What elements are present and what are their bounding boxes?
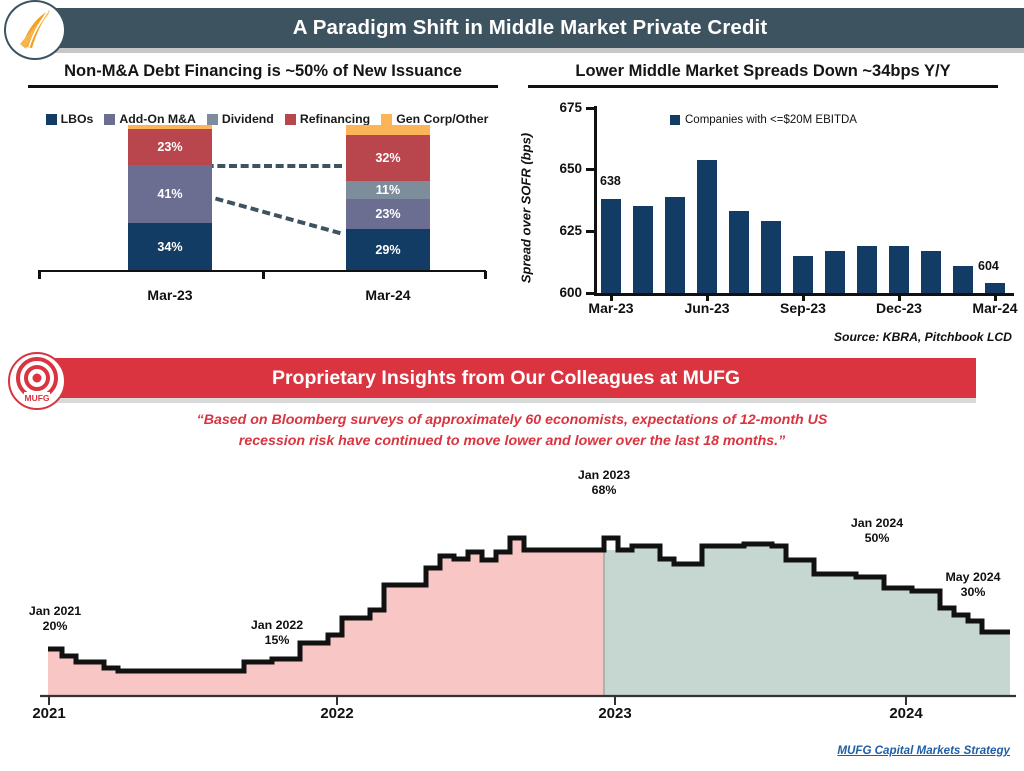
recession-step-area bbox=[0, 460, 1024, 720]
segment-gen-corp-other bbox=[346, 125, 430, 135]
lmm-legend: Companies with <=$20M EBITDA bbox=[670, 114, 857, 126]
annotation-jan-2023: Jan 2023 68% bbox=[559, 468, 649, 498]
annotation-jan-2022: Jan 2022 15% bbox=[232, 618, 322, 648]
bar-mar-23 bbox=[601, 199, 621, 293]
annotation-date: Jan 2022 bbox=[232, 618, 322, 633]
legend-label: Companies with <=$20M EBITDA bbox=[685, 114, 857, 126]
bottom-x-tick-2023 bbox=[614, 696, 616, 705]
axis-tick-mid bbox=[262, 271, 265, 279]
right-heading-rule bbox=[528, 85, 998, 88]
annotation-may-2024: May 2024 30% bbox=[925, 570, 1021, 600]
legend-item-gen-corp-other: Gen Corp/Other bbox=[381, 112, 488, 126]
bar-jan-24 bbox=[921, 251, 941, 293]
annotation-date: Jan 2023 bbox=[559, 468, 649, 483]
legend-item-addon-ma: Add-On M&A bbox=[104, 112, 196, 126]
annotation-date: May 2024 bbox=[925, 570, 1021, 585]
y-axis-label: Spread over SOFR (bps) bbox=[519, 133, 534, 283]
mufg-quote-line-1: “Based on Bloomberg surveys of approxima… bbox=[110, 410, 914, 431]
mufg-bullseye-logo: MUFG bbox=[8, 352, 66, 410]
connector-dash-mid bbox=[191, 190, 340, 235]
axis-tick-left bbox=[38, 271, 41, 279]
segment-refinancing: 32% bbox=[346, 135, 430, 181]
bottom-x-tick-2024 bbox=[905, 696, 907, 705]
bar-aug-23 bbox=[761, 221, 781, 293]
bar-sep-23 bbox=[793, 256, 813, 293]
bar-dec-23 bbox=[889, 246, 909, 293]
source-note: Source: KBRA, Pitchbook LCD bbox=[834, 330, 1012, 344]
x-label-jun-23: Jun-23 bbox=[657, 300, 757, 316]
bottom-x-tick-2022 bbox=[336, 696, 338, 705]
stacked-plot-area: 2% 23% 41% 34% 6% 32% bbox=[24, 128, 510, 303]
left-chart-heading-text: Non-M&A Debt Financing is ~50% of New Is… bbox=[28, 62, 498, 81]
legend-label: Dividend bbox=[222, 112, 274, 126]
segment-value: 32% bbox=[375, 151, 400, 165]
annotation-jan-2024: Jan 2024 50% bbox=[832, 516, 922, 546]
segment-value: 29% bbox=[375, 243, 400, 257]
header-shadow bbox=[44, 48, 1024, 53]
legend-swatch-icon bbox=[104, 114, 115, 125]
lmm-spreads-chart: Spread over SOFR (bps) 675 650 625 600 C… bbox=[520, 96, 1024, 328]
legend-swatch-icon bbox=[381, 114, 392, 125]
page-title: A Paradigm Shift in Middle Market Privat… bbox=[293, 16, 768, 40]
bottom-x-tick-2021 bbox=[48, 696, 50, 705]
annotation-value: 20% bbox=[10, 619, 100, 634]
y-tick-675: 675 bbox=[540, 100, 582, 115]
segment-refinancing: 23% bbox=[128, 129, 212, 165]
left-chart-heading: Non-M&A Debt Financing is ~50% of New Is… bbox=[28, 62, 498, 88]
bar-value-label-638: 638 bbox=[600, 174, 621, 188]
area-fill-post-2023 bbox=[604, 544, 1010, 696]
axis-tick-right bbox=[484, 271, 487, 279]
x-label-sep-23: Sep-23 bbox=[753, 300, 853, 316]
legend-label: Add-On M&A bbox=[119, 112, 196, 126]
mufg-banner: Proprietary Insights from Our Colleagues… bbox=[36, 358, 976, 398]
bottom-x-label-2021: 2021 bbox=[4, 705, 94, 722]
annotation-value: 30% bbox=[925, 585, 1021, 600]
legend-swatch-icon bbox=[670, 115, 680, 125]
x-label-mar-24: Mar-24 bbox=[945, 300, 1024, 316]
mufg-quote-line-2: recession risk have continued to move lo… bbox=[110, 431, 914, 452]
legend-item-dividend: Dividend bbox=[207, 112, 274, 126]
segment-value: 23% bbox=[375, 207, 400, 221]
right-chart-heading-text: Lower Middle Market Spreads Down ~34bps … bbox=[528, 62, 998, 81]
x-label-mar-23: Mar-23 bbox=[561, 300, 661, 316]
legend-item-lbos: LBOs bbox=[46, 112, 94, 126]
y-tick-625: 625 bbox=[540, 223, 582, 238]
annotation-date: Jan 2024 bbox=[832, 516, 922, 531]
segment-value: 34% bbox=[157, 240, 182, 254]
segment-addon-ma: 23% bbox=[346, 199, 430, 229]
bottom-x-label-2024: 2024 bbox=[861, 705, 951, 722]
bar-jul-23 bbox=[729, 211, 749, 293]
annotation-value: 50% bbox=[832, 531, 922, 546]
x-category-mar23: Mar-23 bbox=[110, 287, 230, 303]
bar-value-label-604: 604 bbox=[978, 259, 999, 273]
legend-swatch-icon bbox=[207, 114, 218, 125]
x-label-dec-23: Dec-23 bbox=[849, 300, 949, 316]
annotation-value: 68% bbox=[559, 483, 649, 498]
annotation-date: Jan 2021 bbox=[10, 604, 100, 619]
y-tick-600: 600 bbox=[540, 285, 582, 300]
connector-dash-top bbox=[194, 164, 342, 168]
bar-jun-23 bbox=[697, 160, 717, 293]
company-swoosh-logo bbox=[4, 0, 66, 60]
footer-link[interactable]: MUFG Capital Markets Strategy bbox=[837, 744, 1010, 757]
mufg-logo-text: MUFG bbox=[24, 393, 49, 403]
y-tick-650: 650 bbox=[540, 161, 582, 176]
bottom-x-label-2022: 2022 bbox=[292, 705, 382, 722]
slide-root: A Paradigm Shift in Middle Market Privat… bbox=[0, 0, 1024, 771]
mufg-quote: “Based on Bloomberg surveys of approxima… bbox=[110, 410, 914, 451]
segment-dividend: 11% bbox=[346, 181, 430, 199]
bottom-x-label-2023: 2023 bbox=[570, 705, 660, 722]
us-recession-probability-chart: Jan 2021 20% Jan 2022 15% Jan 2023 68% J… bbox=[0, 460, 1024, 720]
slide-header-bar: A Paradigm Shift in Middle Market Privat… bbox=[36, 8, 1024, 48]
annotation-jan-2021: Jan 2021 20% bbox=[10, 604, 100, 634]
bar-oct-23 bbox=[825, 251, 845, 293]
segment-lbos: 34% bbox=[128, 223, 212, 271]
stacked-chart-legend: LBOs Add-On M&A Dividend Refinancing Gen… bbox=[24, 108, 510, 126]
bar-may-23 bbox=[665, 197, 685, 293]
bar-apr-23 bbox=[633, 206, 653, 293]
legend-label: Gen Corp/Other bbox=[396, 112, 488, 126]
segment-value: 23% bbox=[157, 140, 182, 154]
bar-feb-24 bbox=[953, 266, 973, 293]
legend-swatch-icon bbox=[46, 114, 57, 125]
x-category-mar24: Mar-24 bbox=[328, 287, 448, 303]
issuance-mix-stacked-chart: LBOs Add-On M&A Dividend Refinancing Gen… bbox=[24, 108, 510, 328]
right-chart-heading: Lower Middle Market Spreads Down ~34bps … bbox=[528, 62, 998, 88]
mufg-banner-title: Proprietary Insights from Our Colleagues… bbox=[272, 367, 740, 390]
legend-label: LBOs bbox=[61, 112, 94, 126]
left-heading-rule bbox=[28, 85, 498, 88]
legend-item-refinancing: Refinancing bbox=[285, 112, 370, 126]
segment-addon-ma: 41% bbox=[128, 165, 212, 223]
segment-value: 41% bbox=[157, 187, 182, 201]
mufg-banner-shadow bbox=[44, 398, 976, 403]
bar-mar-24 bbox=[985, 283, 1005, 293]
stacked-bar-mar24: 32% 11% 23% 29% bbox=[346, 125, 430, 271]
legend-label: Refinancing bbox=[300, 112, 370, 126]
segment-value: 11% bbox=[376, 183, 401, 197]
lmm-plot-area: Spread over SOFR (bps) 675 650 625 600 C… bbox=[520, 96, 1024, 328]
legend-swatch-icon bbox=[285, 114, 296, 125]
segment-lbos: 29% bbox=[346, 229, 430, 271]
lmm-y-axis bbox=[594, 106, 597, 295]
stacked-bar-mar23: 23% 41% 34% bbox=[128, 125, 212, 271]
bar-nov-23 bbox=[857, 246, 877, 293]
annotation-value: 15% bbox=[232, 633, 322, 648]
